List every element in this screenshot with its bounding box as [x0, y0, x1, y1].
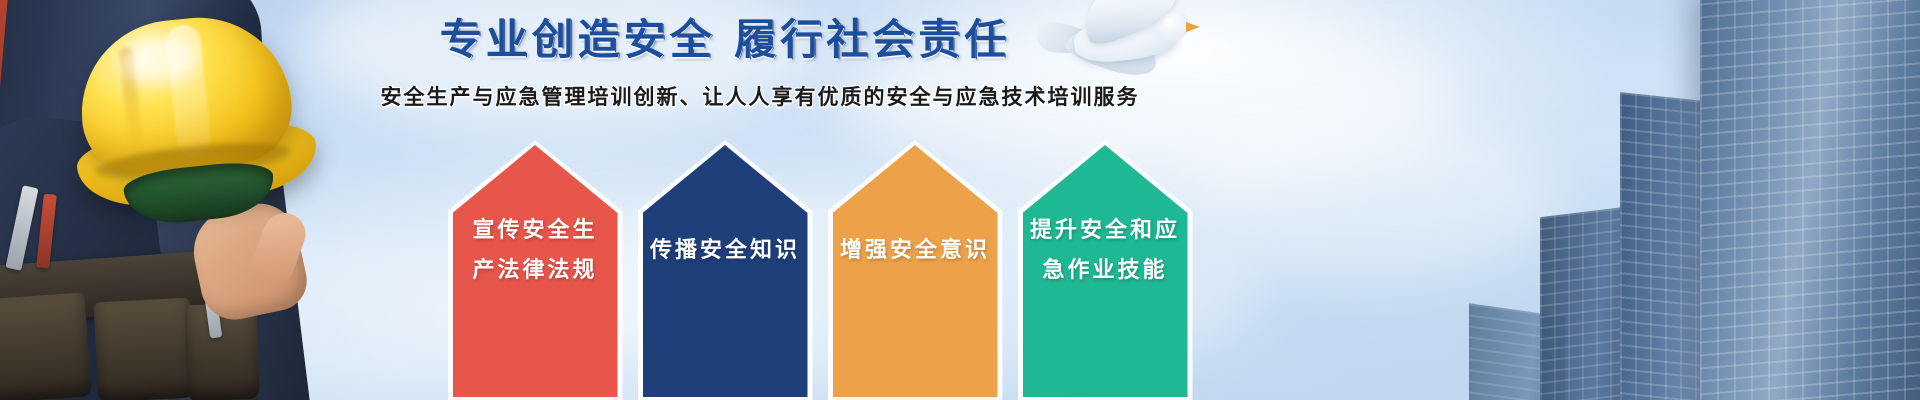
hexagon-fill: 传播安全知识 — [643, 145, 808, 397]
hex-improve-emergency-skills[interactable]: 提升安全和应急作业技能 — [1018, 140, 1193, 400]
hexagon-label-line: 产法律法规 — [472, 251, 597, 291]
hex-strengthen-safety-awareness[interactable]: 增强安全意识 — [828, 140, 1003, 400]
hexagon-label-line: 宣传安全生 — [472, 211, 597, 251]
hex-spread-safety-knowledge[interactable]: 传播安全知识 — [638, 140, 813, 400]
hexagon-label-line: 急作业技能 — [1042, 251, 1167, 291]
hexagon-label-line: 提升安全和应 — [1030, 211, 1180, 251]
hexagon-fill: 增强安全意识 — [833, 145, 998, 397]
promotional-banner: 专业创造安全 履行社会责任 安全生产与应急管理培训创新、让人人享有优质的安全与应… — [0, 0, 1920, 400]
hexagon-badge-row: 宣传安全生产法律法规传播安全知识增强安全意识提升安全和应急作业技能 — [0, 140, 1780, 400]
page-subtitle: 安全生产与应急管理培训创新、让人人享有优质的安全与应急技术培训服务 — [0, 81, 1720, 111]
hexagon-label-line: 增强安全意识 — [840, 231, 990, 271]
hex-promote-safety-law[interactable]: 宣传安全生产法律法规 — [448, 140, 623, 400]
headline-block: 专业创造安全 履行社会责任 安全生产与应急管理培训创新、让人人享有优质的安全与应… — [0, 0, 1920, 111]
hexagon-label-line: 传播安全知识 — [650, 231, 800, 271]
page-title: 专业创造安全 履行社会责任 — [0, 6, 1685, 67]
hexagon-fill: 提升安全和应急作业技能 — [1023, 145, 1188, 397]
hexagon-fill: 宣传安全生产法律法规 — [453, 145, 618, 397]
